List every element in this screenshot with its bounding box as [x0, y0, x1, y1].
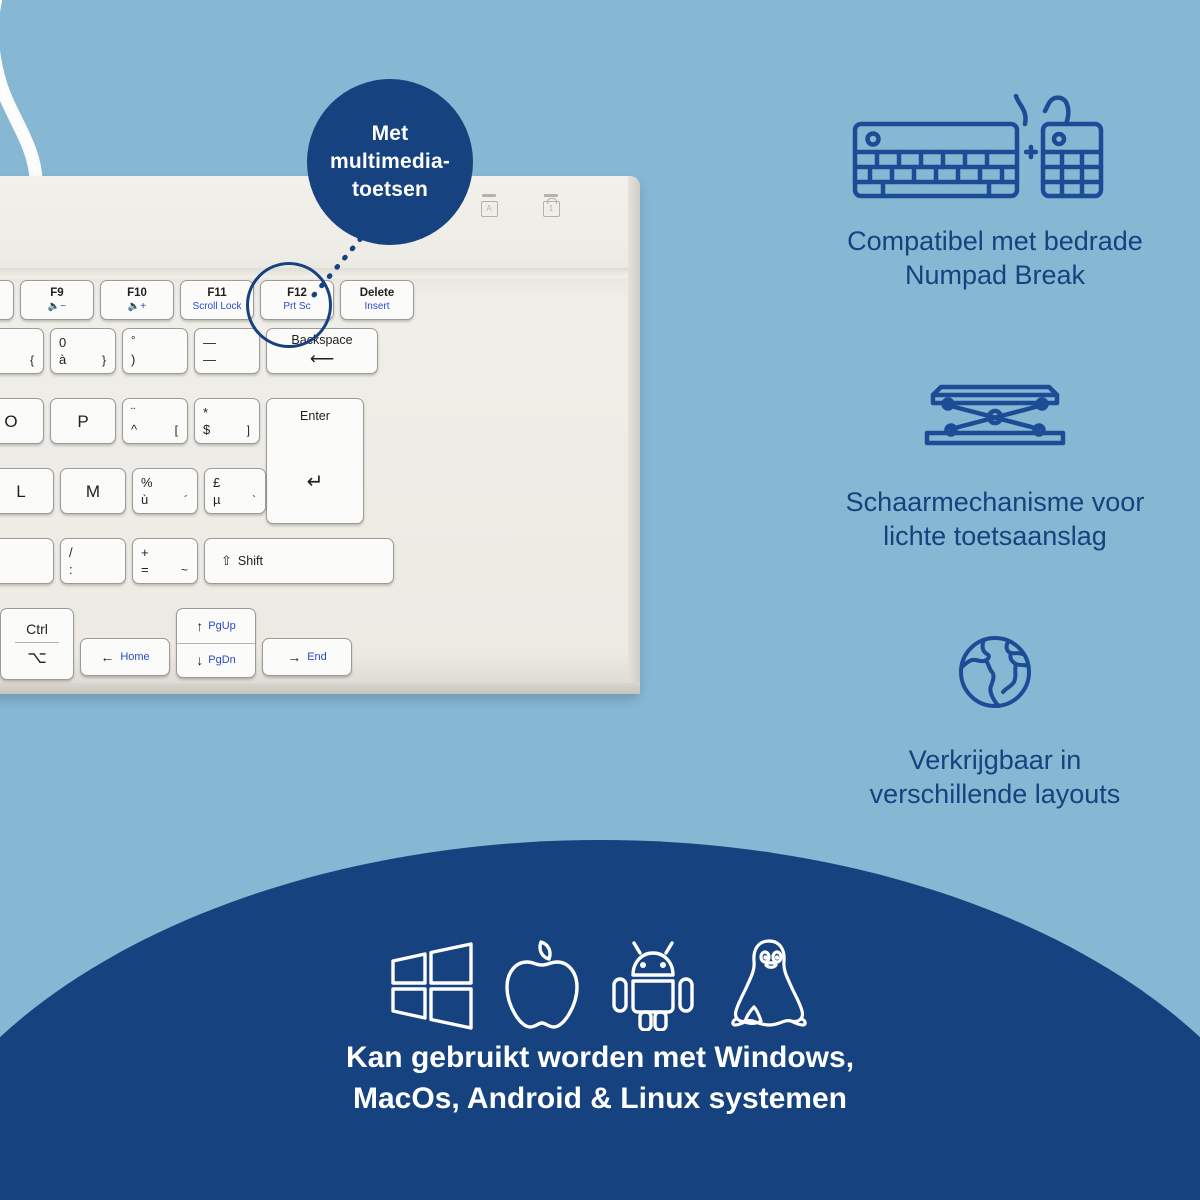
function-key-row: F6 ▶‖ F7 ▶| F8 🔇 F9 🔈− [0, 280, 414, 320]
scissor-mechanism-icon [790, 353, 1200, 475]
feature-compatible-numpad: Compatibel met bedrade Numpad Break [790, 92, 1200, 293]
key-slash-colon[interactable]: / : [60, 538, 126, 584]
os-compatibility-icons [0, 930, 1200, 1040]
apple-icon [503, 939, 581, 1031]
feature-2-text: Schaarmechanisme voor lichte toetsaansla… [790, 485, 1200, 554]
key-o[interactable]: O [0, 398, 44, 444]
product-feature-graphic: A 1 F6 ▶‖ F7 ▶| [0, 0, 1200, 1200]
callout-text: Met multimedia- toetsen [330, 120, 450, 203]
key-enter[interactable]: Enter ↵ [266, 398, 364, 524]
os-compatibility-text: Kan gebruikt worden met Windows, MacOs, … [0, 1038, 1200, 1120]
linux-penguin-icon [725, 937, 813, 1033]
windows-icon [387, 939, 477, 1031]
feature-list: Compatibel met bedrade Numpad Break [790, 92, 1200, 820]
key-m[interactable]: M [60, 468, 126, 514]
letter-row-home: G H J K L M [0, 468, 266, 512]
number-key-row: 6 § ^ 7 è 8 ! 9 ç { [0, 328, 378, 372]
key-diaeresis-caret[interactable]: ¨ ^ [ [122, 398, 188, 444]
feature-3-text: Verkrijgbaar in verschillende layouts [790, 743, 1200, 812]
key-arrow-down-pgdn[interactable]: ↓ PgDn [177, 644, 255, 678]
feature-layouts: Verkrijgbaar in verschillende layouts [790, 611, 1200, 812]
key-pound-micro[interactable]: £ µ ` [204, 468, 266, 514]
letter-row-bottom: B N ? , . ; / : [0, 538, 394, 582]
modifier-key-row: Alt Gr ⌘ Ctrl ⌥ ← Home [0, 608, 352, 680]
key-f8[interactable]: F8 🔇 [0, 280, 14, 320]
key-arrow-left-home[interactable]: ← Home [80, 638, 170, 676]
keyboard-chassis: A 1 F6 ▶‖ F7 ▶| [0, 176, 640, 694]
key-l[interactable]: L [0, 468, 54, 514]
key-percent-ugrave[interactable]: % ù ´ [132, 468, 198, 514]
key-0[interactable]: 0 à } [50, 328, 116, 374]
num-lock-indicator-icon: 1 [540, 194, 562, 224]
key-period-semicolon[interactable]: . ; [0, 538, 54, 584]
f9-highlight-ring [246, 262, 332, 348]
globe-icon [790, 611, 1200, 733]
key-f9[interactable]: F9 🔈− [20, 280, 94, 320]
usb-cable [0, 0, 100, 196]
caps-lock-indicator-icon: A [478, 194, 500, 224]
keyboard-plus-numpad-icon [790, 92, 1200, 214]
key-p[interactable]: P [50, 398, 116, 444]
key-asterisk-dollar[interactable]: * $ ] [194, 398, 260, 444]
key-arrow-up-down[interactable]: ↑ PgUp ↓ PgDn [176, 608, 256, 678]
key-degree-parenthesis[interactable]: ° ) [122, 328, 188, 374]
key-plus-equals-tilde[interactable]: + = ~ [132, 538, 198, 584]
key-f11[interactable]: F11 Scroll Lock [180, 280, 254, 320]
keyboard-indicator-leds: A 1 [478, 194, 588, 234]
keyboard-product-photo: A 1 F6 ▶‖ F7 ▶| [0, 176, 640, 696]
multimedia-callout-bubble: Met multimedia- toetsen [307, 79, 473, 245]
key-f10[interactable]: F10 🔈+ [100, 280, 174, 320]
feature-1-text: Compatibel met bedrade Numpad Break [790, 224, 1200, 293]
key-arrow-up-pgup[interactable]: ↑ PgUp [177, 609, 255, 644]
key-shift-right[interactable]: ⇧ Shift [204, 538, 394, 584]
android-icon [607, 939, 699, 1031]
feature-scissor-mechanism: Schaarmechanisme voor lichte toetsaansla… [790, 353, 1200, 554]
key-underscore-dash[interactable]: — — [194, 328, 260, 374]
key-grid: F6 ▶‖ F7 ▶| F8 🔇 F9 🔈− [0, 280, 640, 686]
letter-row-top: T Y U I O P [0, 398, 364, 442]
key-9[interactable]: 9 ç { [0, 328, 44, 374]
key-arrow-right-end[interactable]: → End [262, 638, 352, 676]
key-delete-insert[interactable]: Delete Insert [340, 280, 414, 320]
key-ctrl-option[interactable]: Ctrl ⌥ [0, 608, 74, 680]
